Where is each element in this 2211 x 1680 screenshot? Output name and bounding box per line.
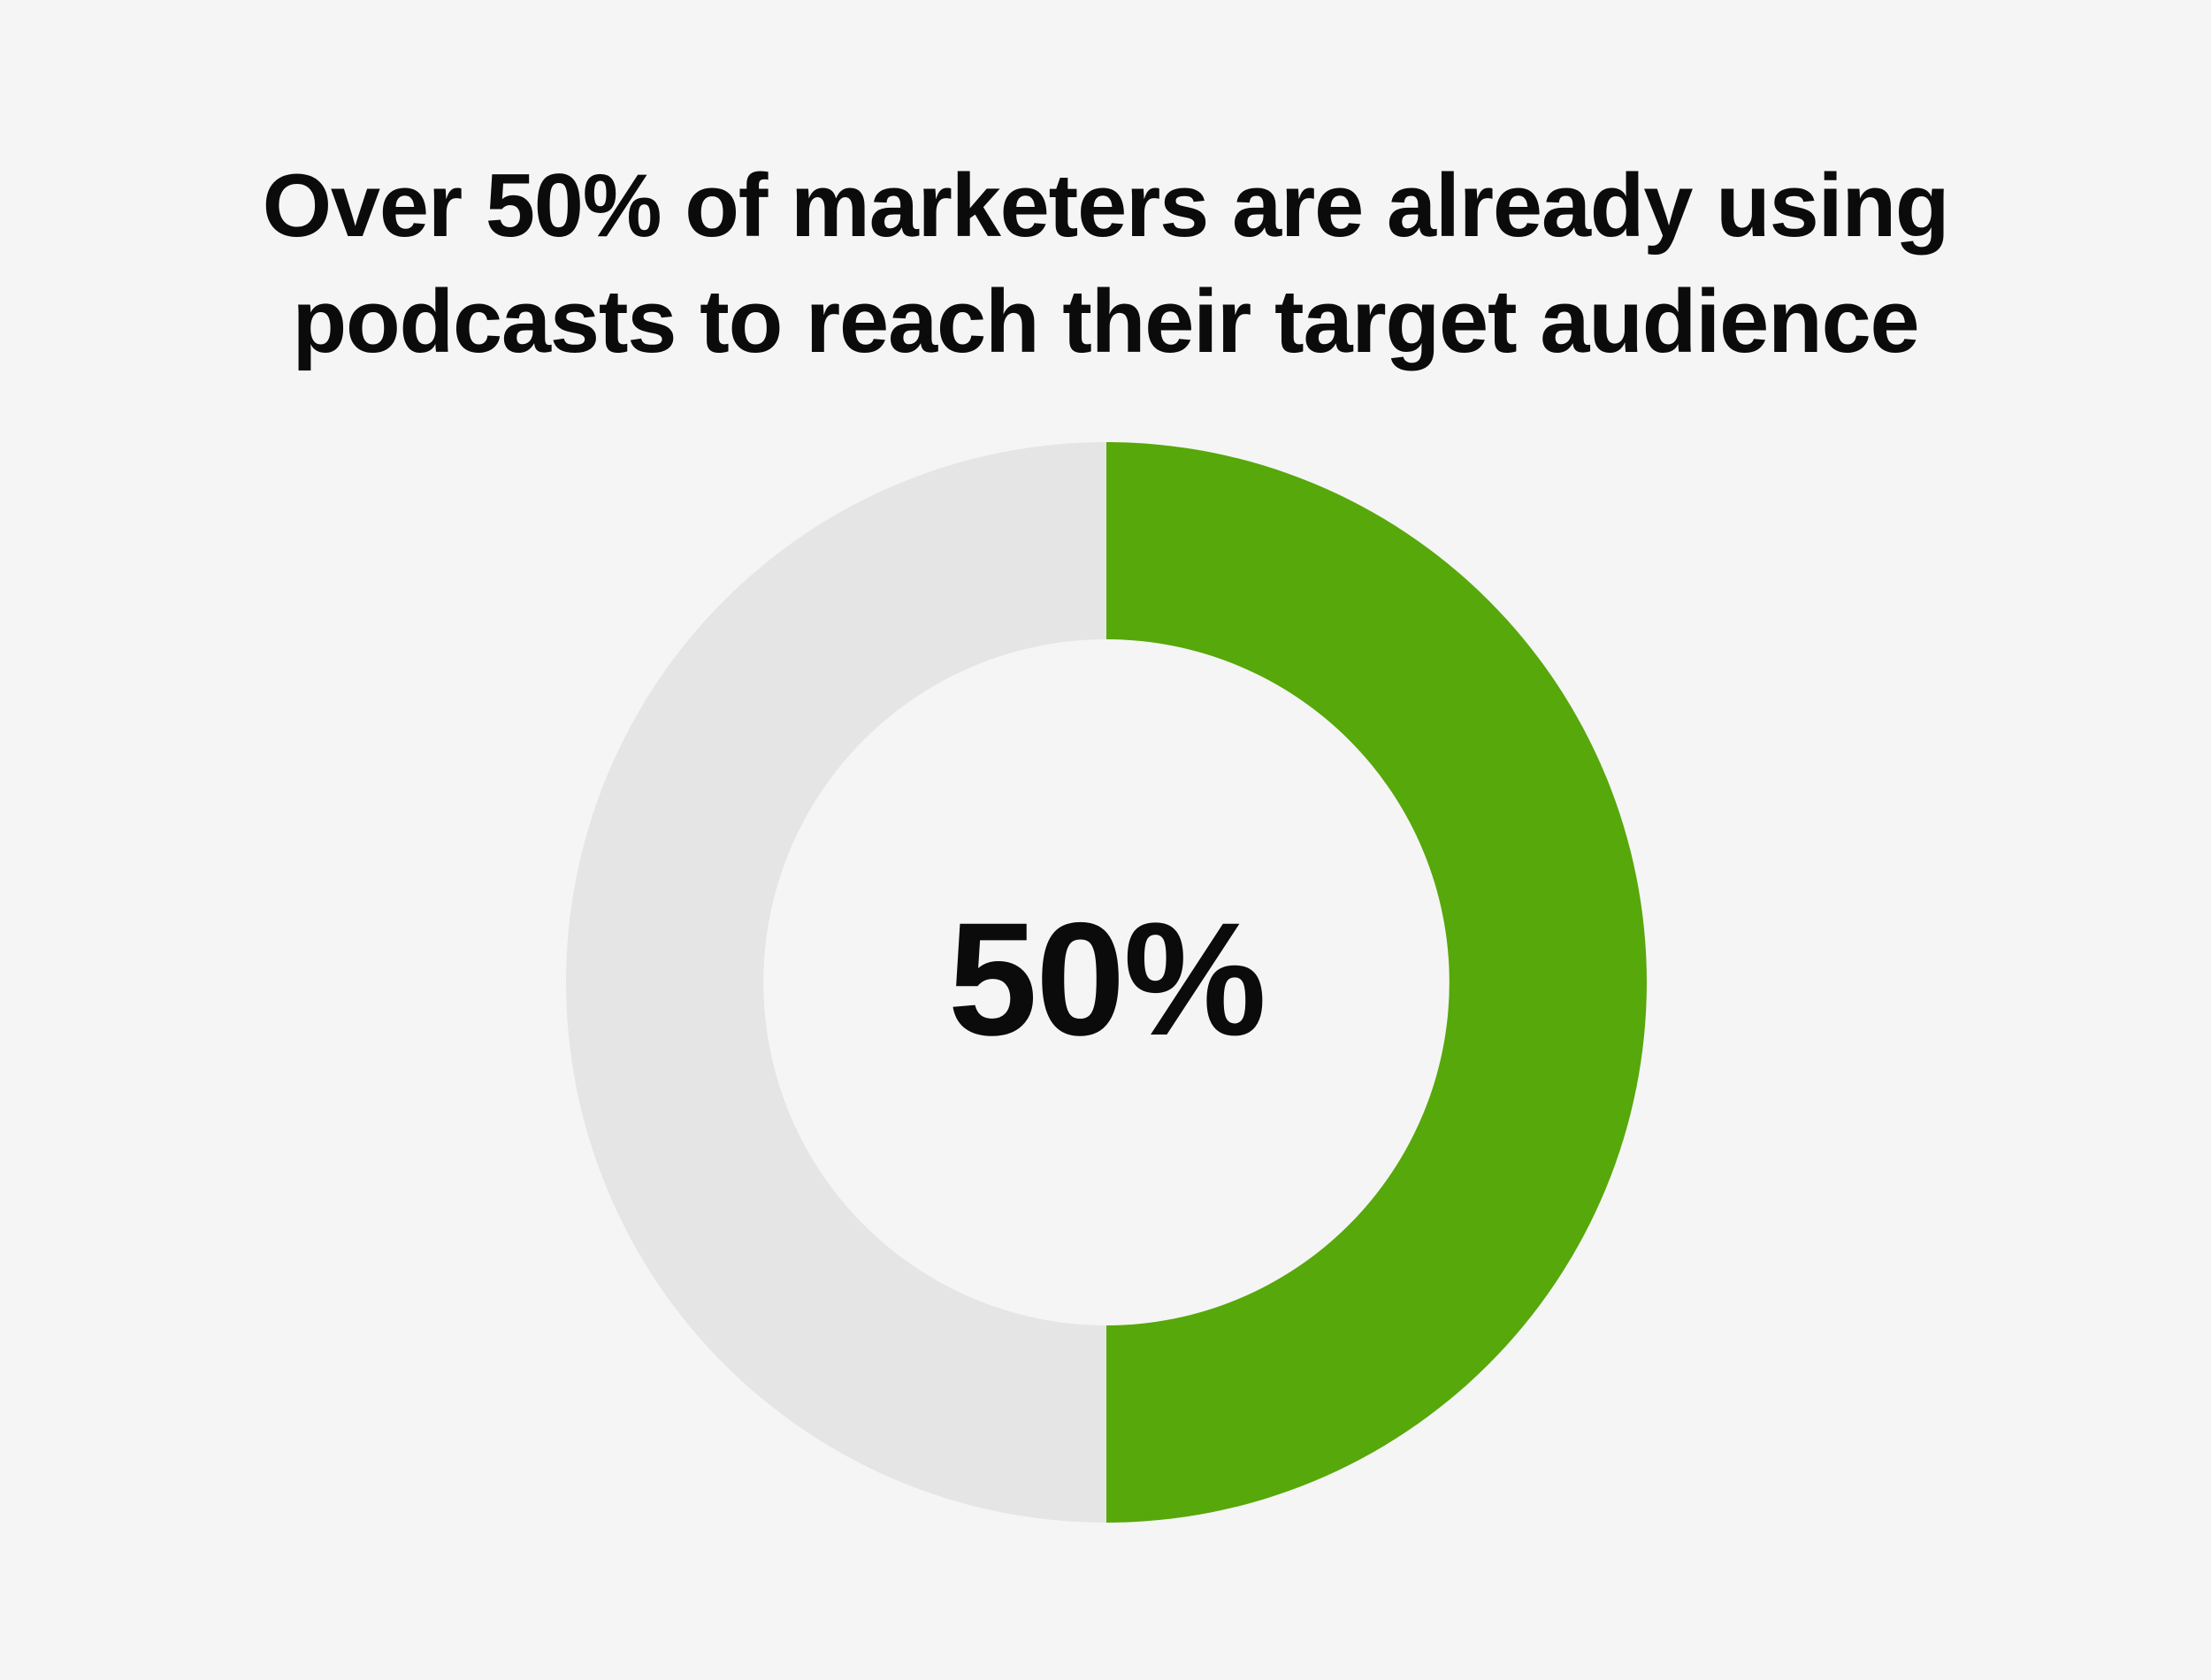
donut-chart: 50% bbox=[566, 442, 1647, 1523]
donut-slice-remaining bbox=[566, 442, 1106, 1523]
page-title-line-1: Over 50% of marketers are already using bbox=[0, 149, 2211, 264]
donut-slice-filled bbox=[1106, 442, 1647, 1523]
page-title: Over 50% of marketers are already using … bbox=[0, 149, 2211, 381]
page-title-line-2: podcasts to reach their target audience bbox=[0, 264, 2211, 380]
infographic-canvas: Over 50% of marketers are already using … bbox=[0, 0, 2211, 1680]
donut-chart-svg bbox=[566, 442, 1647, 1523]
